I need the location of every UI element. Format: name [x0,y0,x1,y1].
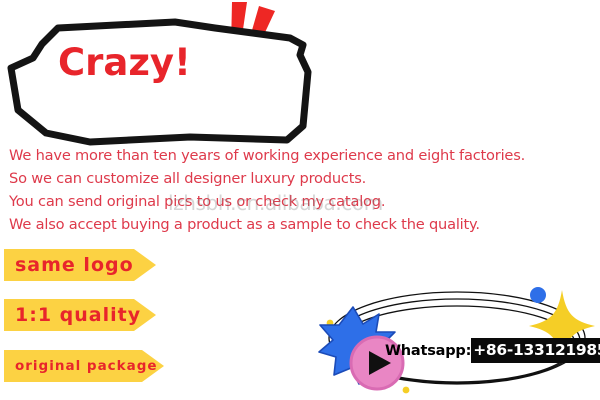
promo-banner-canvas: Crazy! We have more than ten years of wo… [0,0,600,400]
feature-ribbon-same-logo: same logo [4,249,156,281]
body-line: You can send original pics to us or chec… [9,190,594,213]
headline-crazy: Crazy! [58,44,191,81]
whatsapp-label: Whatsapp: [385,343,471,359]
feature-ribbon-original-package: original package [4,350,164,382]
contact-group: Whatsapp: +86-13312198565 [305,280,600,400]
speech-bubble-group: Crazy! [0,0,320,150]
yellow-dot-icon [403,387,410,394]
feature-ribbon-quality: 1:1 quality [4,299,156,331]
description-paragraph: We have more than ten years of working e… [9,144,594,236]
whatsapp-number[interactable]: +86-13312198565 [471,338,600,363]
whatsapp-contact-line[interactable]: Whatsapp: +86-13312198565 [385,338,600,363]
ribbon-label: same logo [4,254,134,276]
blue-dot-icon [530,287,546,303]
body-line: We have more than ten years of working e… [9,144,594,167]
body-line: So we can customize all designer luxury … [9,167,594,190]
ribbon-label: original package [4,358,158,374]
body-line: We also accept buying a product as a sam… [9,213,594,236]
ribbon-label: 1:1 quality [4,304,141,326]
